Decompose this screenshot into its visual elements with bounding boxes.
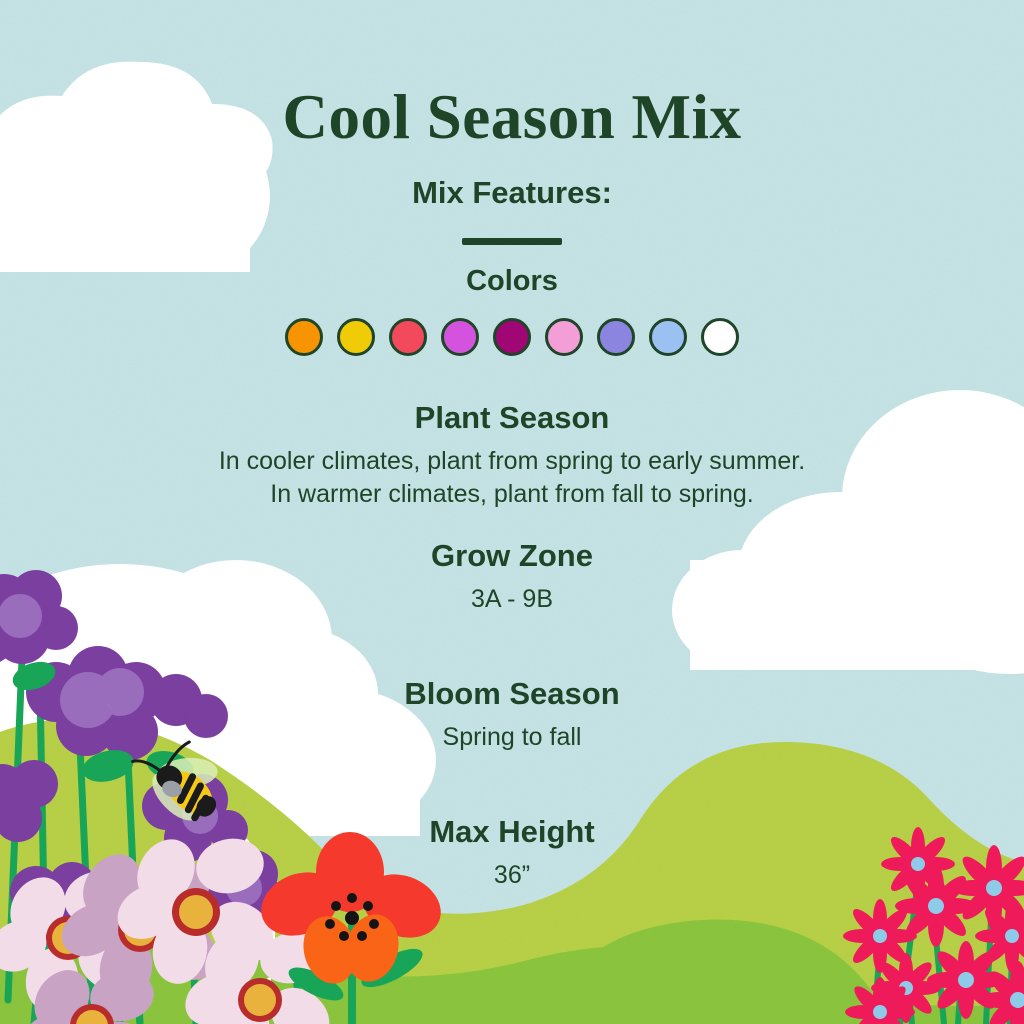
feature-heading: Grow Zone: [0, 538, 1024, 574]
feature-heading: Plant Season: [0, 400, 1024, 436]
feature-heading: Max Height: [0, 814, 1024, 850]
feature-grow-zone: Grow Zone 3A - 9B: [0, 538, 1024, 616]
feature-max-height: Max Height 36”: [0, 814, 1024, 892]
feature-body: 36”: [0, 859, 1024, 892]
feature-body: Spring to fall: [0, 721, 1024, 754]
color-swatch-purple: [493, 318, 531, 356]
seed-packet-infographic: Cool Season Mix Mix Features: Colors Pla…: [0, 0, 1024, 1024]
color-swatch-light-blue: [649, 318, 687, 356]
color-swatch-violet-blue: [597, 318, 635, 356]
color-swatch-white: [701, 318, 739, 356]
feature-body-line: In cooler climates, plant from spring to…: [0, 445, 1024, 478]
feature-plant-season: Plant Season In cooler climates, plant f…: [0, 400, 1024, 511]
feature-body: 3A - 9B: [0, 583, 1024, 616]
mix-features-subtitle: Mix Features:: [0, 175, 1024, 211]
feature-body: In cooler climates, plant from spring to…: [0, 445, 1024, 511]
color-swatch-yellow: [337, 318, 375, 356]
feature-body-line: In warmer climates, plant from fall to s…: [0, 478, 1024, 511]
color-swatch-magenta: [441, 318, 479, 356]
feature-bloom-season: Bloom Season Spring to fall: [0, 676, 1024, 754]
feature-body-line: Spring to fall: [0, 721, 1024, 754]
colors-label: Colors: [0, 265, 1024, 298]
feature-body-line: 3A - 9B: [0, 583, 1024, 616]
color-swatch-pink: [545, 318, 583, 356]
color-swatch-orange: [285, 318, 323, 356]
divider-rule: [462, 238, 562, 245]
color-swatch-row: [0, 318, 1024, 356]
feature-heading: Bloom Season: [0, 676, 1024, 712]
page-title: Cool Season Mix: [0, 84, 1024, 150]
color-swatch-red: [389, 318, 427, 356]
feature-body-line: 36”: [0, 859, 1024, 892]
